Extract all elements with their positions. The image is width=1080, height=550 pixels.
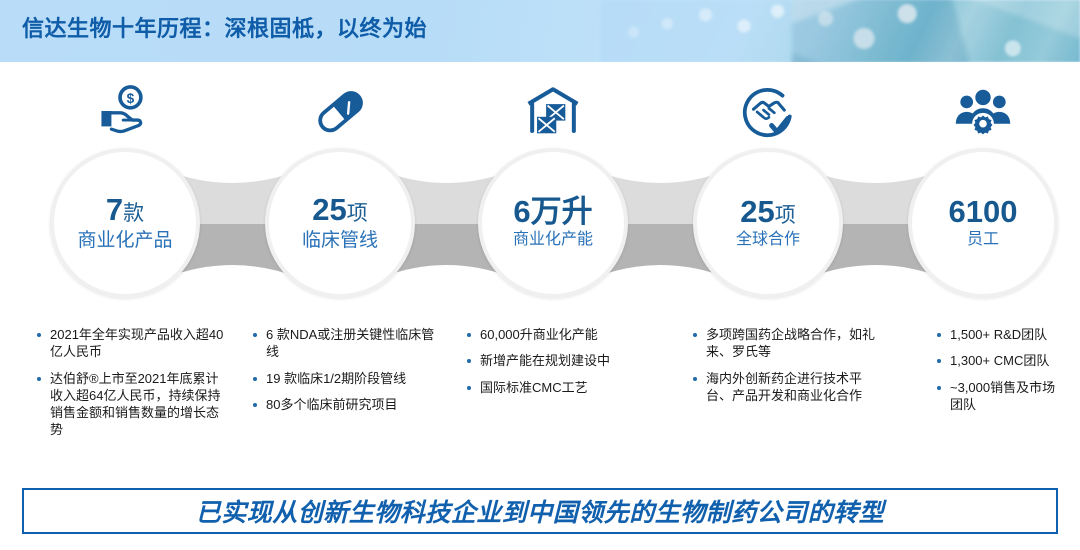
bullet-column: 2021年全年实现产品收入超40亿人民币达伯舒®上市至2021年底累计收入超64… bbox=[36, 326, 226, 448]
metric-value-line: 25项 bbox=[312, 194, 367, 227]
metric-number: 25 bbox=[312, 192, 346, 227]
bullet-item: 19 款临床1/2期阶段管线 bbox=[252, 370, 442, 387]
metric-value-line: 25项 bbox=[740, 196, 795, 229]
page-title: 信达生物十年历程：深根固柢，以终为始 bbox=[22, 11, 427, 43]
bullet-item: 60,000升商业化产能 bbox=[466, 326, 656, 343]
metric-circle: 25项全球合作 bbox=[693, 148, 843, 298]
metric-bullets-row: 2021年全年实现产品收入超40亿人民币达伯舒®上市至2021年底累计收入超64… bbox=[0, 326, 1080, 476]
summary-banner-text: 已实现从创新生物科技企业到中国领先的生物制药公司的转型 bbox=[196, 493, 885, 529]
metric-circle: 25项临床管线 bbox=[265, 148, 415, 298]
bullet-item: 达伯舒®上市至2021年底累计收入超64亿人民币，持续保持销售金额和销售数量的增… bbox=[36, 370, 226, 439]
bullet-column: 60,000升商业化产能新增产能在规划建设中国际标准CMC工艺 bbox=[466, 326, 656, 405]
bullet-item: 6 款NDA或注册关键性临床管线 bbox=[252, 326, 442, 361]
bullet-column: 1,500+ R&D团队1,300+ CMC团队~3,000销售及市场团队 bbox=[936, 326, 1066, 422]
bullet-item: 80多个临床前研究项目 bbox=[252, 396, 442, 413]
bullet-item: 1,300+ CMC团队 bbox=[936, 352, 1066, 369]
metric-unit: 款 bbox=[123, 202, 144, 225]
metric-number: 25 bbox=[740, 194, 774, 229]
bullet-item: 国际标准CMC工艺 bbox=[466, 379, 656, 396]
bullet-item: 新增产能在规划建设中 bbox=[466, 352, 656, 369]
bullet-column: 多项跨国药企战略合作，如礼来、罗氏等海内外创新药企进行技术平台、产品开发和商业化… bbox=[692, 326, 877, 413]
warehouse-boxes-icon bbox=[493, 78, 613, 144]
bullet-item: ~3,000销售及市场团队 bbox=[936, 379, 1066, 414]
metric-label: 全球合作 bbox=[736, 231, 800, 250]
page-header: 信达生物十年历程：深根固柢，以终为始 bbox=[0, 0, 1080, 62]
metric-unit: 项 bbox=[775, 204, 796, 227]
metric-unit: 项 bbox=[347, 202, 368, 225]
metric-number: 6万升 bbox=[513, 194, 592, 229]
metric-label: 商业化产能 bbox=[513, 231, 593, 250]
metric-number: 7 bbox=[106, 192, 123, 227]
metric-label: 临床管线 bbox=[302, 230, 378, 252]
metric-number: 6100 bbox=[949, 194, 1018, 229]
header-background-photo bbox=[600, 0, 1080, 62]
bullet-item: 2021年全年实现产品收入超40亿人民币 bbox=[36, 326, 226, 361]
metric-value-line: 7款 bbox=[106, 194, 144, 227]
metric-circles-row: 7款商业化产品25项临床管线6万升商业化产能25项全球合作6100员工 bbox=[0, 148, 1080, 298]
bullet-item: 海内外创新药企进行技术平台、产品开发和商业化合作 bbox=[692, 370, 877, 405]
summary-banner: 已实现从创新生物科技企业到中国领先的生物制药公司的转型 bbox=[22, 488, 1058, 534]
svg-text:$: $ bbox=[127, 91, 135, 106]
metric-circle: 7款商业化产品 bbox=[50, 148, 200, 298]
metric-label: 员工 bbox=[967, 231, 999, 250]
bullet-item: 1,500+ R&D团队 bbox=[936, 326, 1066, 343]
bullet-item: 多项跨国药企战略合作，如礼来、罗氏等 bbox=[692, 326, 877, 361]
bullet-column: 6 款NDA或注册关键性临床管线19 款临床1/2期阶段管线80多个临床前研究项… bbox=[252, 326, 442, 422]
hand-holding-coin-icon: $ bbox=[65, 78, 185, 144]
metric-icons-row: $ bbox=[0, 78, 1080, 144]
metric-circle: 6100员工 bbox=[908, 148, 1058, 298]
capsule-pill-icon bbox=[280, 78, 400, 144]
metric-value-line: 6100 bbox=[949, 196, 1018, 229]
metric-value-line: 6万升 bbox=[513, 196, 592, 229]
metric-label: 商业化产品 bbox=[77, 230, 172, 252]
handshake-check-icon bbox=[708, 78, 828, 144]
metric-circle: 6万升商业化产能 bbox=[478, 148, 628, 298]
team-gear-icon bbox=[923, 78, 1043, 144]
